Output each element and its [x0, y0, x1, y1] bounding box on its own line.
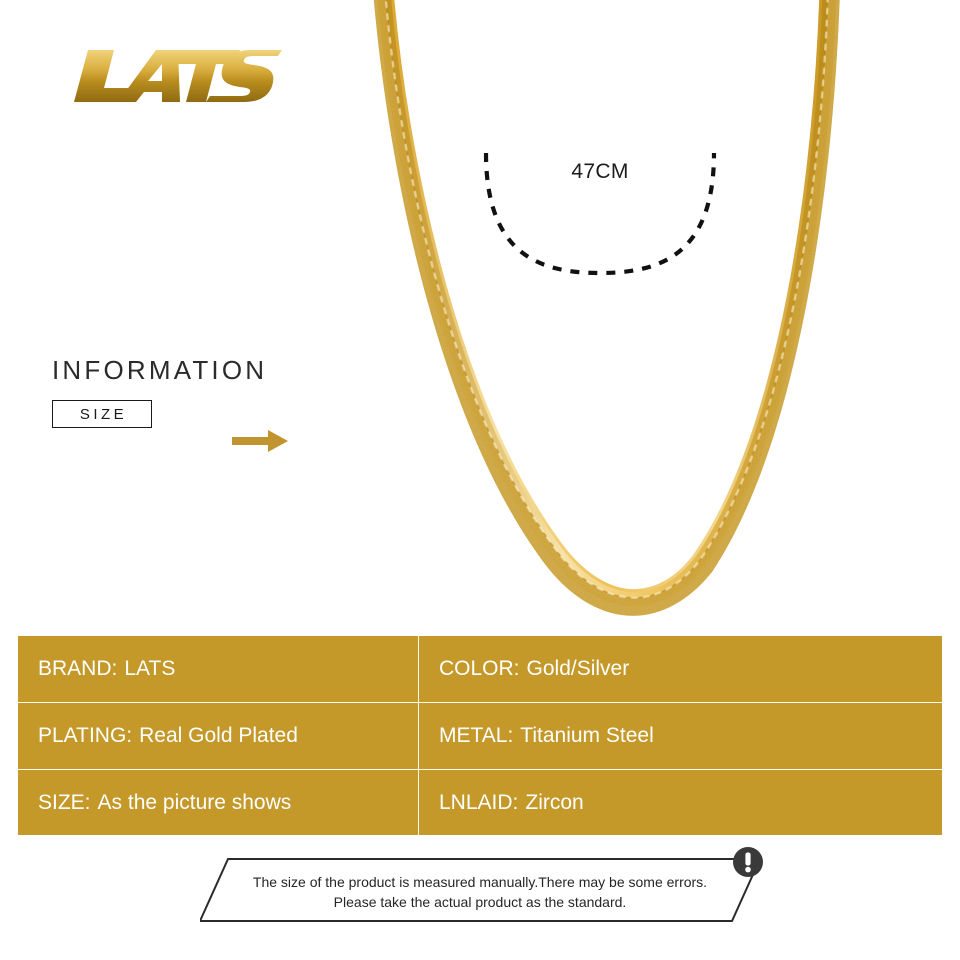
spec-value-brand: LATS — [124, 657, 175, 681]
spec-key-lnlaid: LNLAID: — [439, 791, 518, 815]
arrow-right-icon — [232, 428, 288, 454]
disclaimer-line-2: Please take the actual product as the st… — [200, 892, 760, 912]
size-badge-label: SIZE — [77, 406, 127, 423]
spec-cell-metal: METAL: Titanium Steel — [419, 703, 942, 769]
spec-cell-lnlaid: LNLAID: Zircon — [419, 770, 942, 835]
spec-value-metal: Titanium Steel — [520, 724, 653, 748]
product-detail-image: 47CM INFORMATION SIZE BRAND: LATS COLOR:… — [0, 0, 960, 960]
spec-value-color: Gold/Silver — [527, 657, 630, 681]
spec-cell-color: COLOR: Gold/Silver — [419, 636, 942, 702]
spec-key-metal: METAL: — [439, 724, 513, 748]
disclaimer-line-1: The size of the product is measured manu… — [200, 872, 760, 892]
spec-value-lnlaid: Zircon — [525, 791, 583, 815]
warning-exclamation-icon — [731, 845, 765, 879]
specification-table: BRAND: LATS COLOR: Gold/Silver PLATING: … — [18, 636, 942, 835]
brand-logo — [74, 44, 284, 106]
spec-cell-plating: PLATING: Real Gold Plated — [18, 703, 418, 769]
size-badge: SIZE — [52, 400, 152, 428]
spec-cell-brand: BRAND: LATS — [18, 636, 418, 702]
spec-key-color: COLOR: — [439, 657, 520, 681]
information-heading: INFORMATION — [52, 355, 267, 386]
spec-key-plating: PLATING: — [38, 724, 132, 748]
disclaimer-text: The size of the product is measured manu… — [200, 872, 760, 912]
measurement-label: 47CM — [470, 160, 730, 184]
spec-key-size: SIZE: — [38, 791, 91, 815]
spec-value-size: As the picture shows — [98, 791, 292, 815]
spec-key-brand: BRAND: — [38, 657, 117, 681]
spec-value-plating: Real Gold Plated — [139, 724, 298, 748]
spec-cell-size: SIZE: As the picture shows — [18, 770, 418, 835]
